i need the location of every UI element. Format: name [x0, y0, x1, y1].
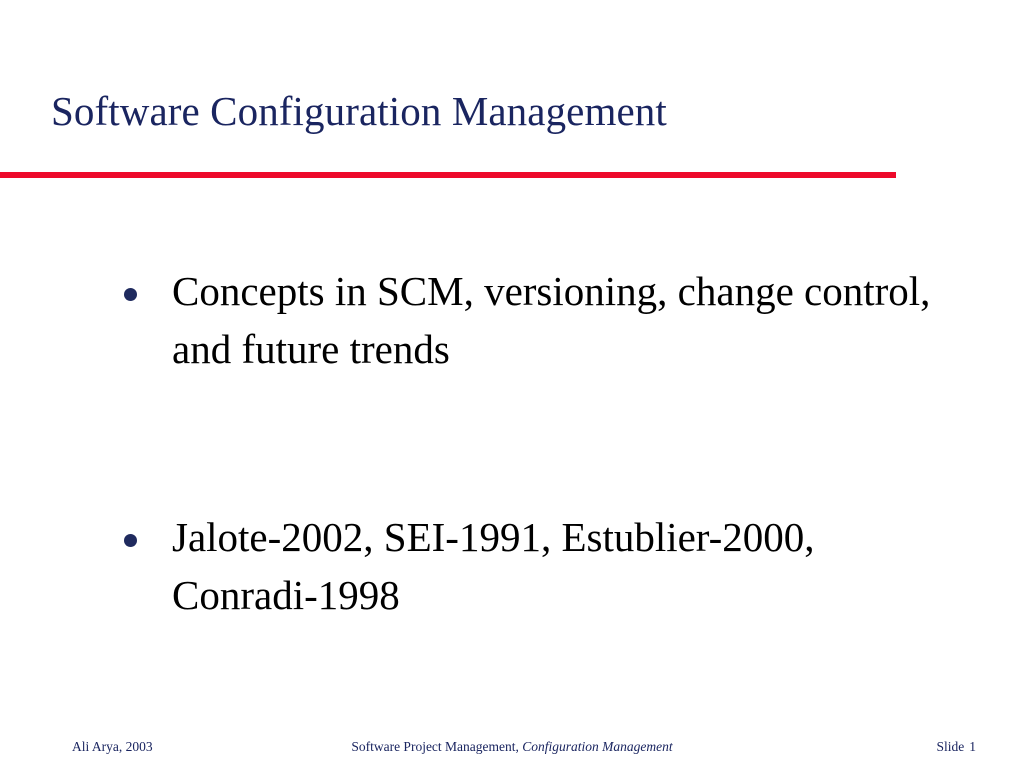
footer-slide-number: Slide1 [936, 738, 976, 756]
slide-footer: Ali Arya, 2003 Software Project Manageme… [0, 738, 1024, 760]
slide-body: Concepts in SCM, versioning, change cont… [0, 262, 1024, 624]
footer-course-title: Software Project Management, [351, 739, 522, 754]
title-block: Software Configuration Management [0, 84, 1024, 184]
presentation-slide: Software Configuration Management Concep… [0, 0, 1024, 768]
bullet-text: Jalote-2002, SEI-1991, Estublier-2000, C… [172, 508, 1024, 624]
title-accent-rule [0, 172, 896, 178]
list-item: Concepts in SCM, versioning, change cont… [0, 262, 1024, 378]
bullet-text: Concepts in SCM, versioning, change cont… [172, 262, 1024, 378]
bullet-dot-icon [124, 288, 137, 301]
list-item: Jalote-2002, SEI-1991, Estublier-2000, C… [0, 508, 1024, 624]
page-title: Software Configuration Management [51, 84, 951, 138]
footer-course: Software Project Management, Configurati… [0, 738, 1024, 756]
slide-number-value: 1 [969, 739, 976, 754]
bullet-dot-icon [124, 534, 137, 547]
footer-course-topic: Configuration Management [522, 739, 672, 754]
slide-label: Slide [936, 739, 964, 754]
